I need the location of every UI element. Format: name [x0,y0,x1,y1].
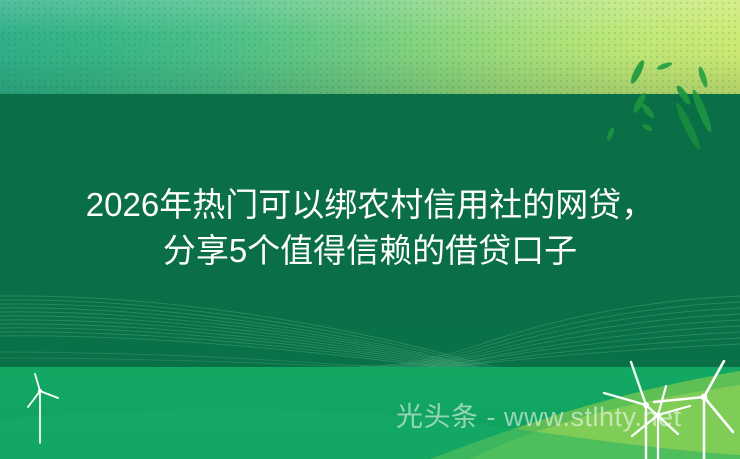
wind-turbine-icon-right-front [618,384,723,459]
page-title: 2026年热门可以绑农村信用社的网贷， 分享5个值得信赖的借贷口子 [0,182,740,274]
halftone-dot-texture-lower [0,94,740,120]
wind-turbine-icon-left [22,371,74,447]
banner-image: 光头条 - www.stlhty.net 2026年热门可以绑农村信用社的网贷，… [0,0,740,459]
